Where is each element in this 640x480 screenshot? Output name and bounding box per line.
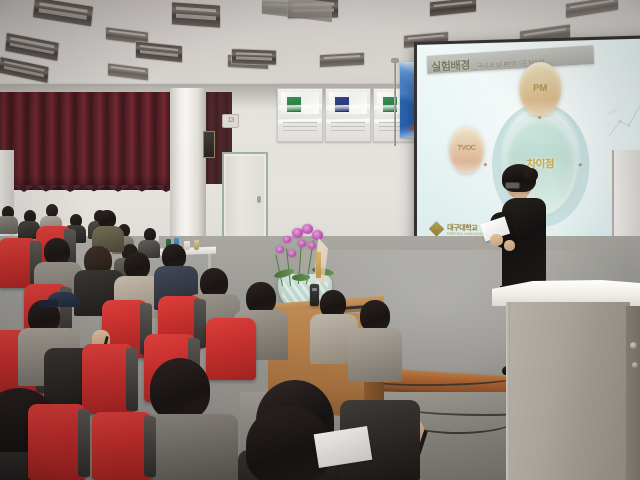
ceiling-light-panel xyxy=(5,33,59,61)
orchid-blossom xyxy=(298,240,306,247)
lectern-edge xyxy=(506,302,510,480)
ceiling-light-panel xyxy=(320,53,364,67)
audience-head xyxy=(44,238,70,265)
lectern-knob[interactable] xyxy=(630,342,637,349)
lectern xyxy=(498,280,640,480)
audience-head xyxy=(124,252,150,279)
wall-poster xyxy=(325,88,371,142)
auditorium-door[interactable] xyxy=(222,152,268,239)
presenter-hand xyxy=(504,240,515,251)
orchid-blossom xyxy=(312,230,323,240)
ceiling-light-panel xyxy=(430,0,476,16)
poster-caption xyxy=(283,120,317,136)
ceiling-air-duct xyxy=(262,0,332,22)
ceiling-light-panel xyxy=(33,0,93,26)
presenter-glasses-icon xyxy=(505,182,520,189)
theater-seat xyxy=(28,404,86,480)
baseball-cap xyxy=(46,292,80,307)
maroon-curtain xyxy=(0,92,196,190)
banner-pole xyxy=(394,62,396,146)
ceiling-light-panel xyxy=(0,57,49,83)
slide-title-main: 실험배경 xyxy=(431,59,470,73)
logo-diamond-icon xyxy=(429,221,445,237)
theater-seat xyxy=(82,344,134,414)
orchid-blossom xyxy=(276,246,284,253)
orchid-blossom xyxy=(288,250,296,257)
audience-body xyxy=(348,328,402,382)
audience-body xyxy=(0,216,18,234)
orchid-ribbon-tag xyxy=(316,252,321,278)
poster-glare xyxy=(325,104,371,111)
orchid-blossom xyxy=(308,242,316,249)
ceiling-light-panel xyxy=(172,2,220,27)
wall-clock: 13 xyxy=(222,114,239,128)
support-column xyxy=(170,88,206,238)
theater-seat xyxy=(0,238,38,288)
banner-pole-cap xyxy=(391,58,399,63)
audience-head xyxy=(150,358,210,420)
slide-marker-dot xyxy=(579,163,582,166)
slide-bubble-pm-label: PM xyxy=(519,82,561,93)
ceiling-light-panel xyxy=(566,0,618,18)
presenter-hand xyxy=(490,234,503,246)
lectern-side-panel xyxy=(626,306,640,480)
ceiling-light-panel xyxy=(232,49,276,65)
ceiling-light-panel xyxy=(108,64,148,81)
poster-glare xyxy=(277,104,323,111)
slide-bubble-pm: PM xyxy=(519,62,561,116)
door-handle-icon[interactable] xyxy=(257,196,261,203)
lectern-knob[interactable] xyxy=(632,362,638,368)
photo-scene: 13 대구 대 제1회 2009. 11. xyxy=(0,0,640,480)
wall-poster xyxy=(277,88,323,142)
theater-seat xyxy=(206,318,256,380)
slide-decor-lines xyxy=(605,94,640,147)
presentation-remote[interactable] xyxy=(310,284,319,306)
lectern-body xyxy=(508,302,630,480)
orchid-blossom xyxy=(283,236,291,243)
slide-marker-dot xyxy=(538,116,541,119)
slide-marker-dot xyxy=(484,163,487,166)
ceiling-light-panel xyxy=(136,42,182,63)
bottle xyxy=(184,241,190,250)
theater-seat xyxy=(92,412,152,480)
presenter-hair-bun xyxy=(524,168,538,182)
wall-speaker-icon xyxy=(203,131,215,158)
bottle xyxy=(194,240,199,250)
poster-caption xyxy=(331,120,365,136)
slide-bubble-tvoc-label: TVOC xyxy=(449,145,484,152)
slide-bubble-tvoc: TVOC xyxy=(449,126,484,173)
